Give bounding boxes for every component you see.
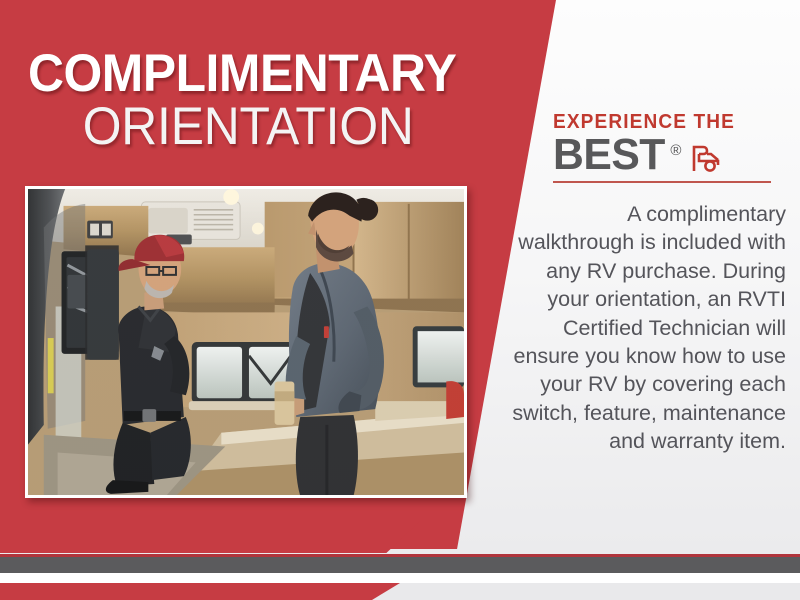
logo-underline-rule xyxy=(553,181,771,183)
experience-the-best-logo: EXPERIENCE THE BEST ® xyxy=(553,112,777,183)
page-title: COMPLIMENTARY ORIENTATION xyxy=(0,48,440,154)
next-slide-red-band xyxy=(0,583,400,600)
rv-motorhome-icon xyxy=(688,140,722,174)
rv-interior-illustration xyxy=(28,189,464,495)
bottom-red-band xyxy=(0,521,420,553)
orientation-photo xyxy=(25,186,467,498)
headline-line-2: ORIENTATION xyxy=(53,100,440,154)
description-text: A complimentary walkthrough is included … xyxy=(508,200,786,455)
logo-wordmark: BEST xyxy=(553,135,665,175)
registered-trademark-icon: ® xyxy=(670,143,681,158)
photo-image xyxy=(28,189,464,495)
headline-line-1: COMPLIMENTARY xyxy=(28,48,415,100)
gray-divider-bar xyxy=(0,557,800,573)
slide-canvas: COMPLIMENTARY ORIENTATION xyxy=(0,0,800,600)
white-gap-divider xyxy=(0,573,800,583)
logo-wordmark-row: BEST ® xyxy=(553,135,777,175)
